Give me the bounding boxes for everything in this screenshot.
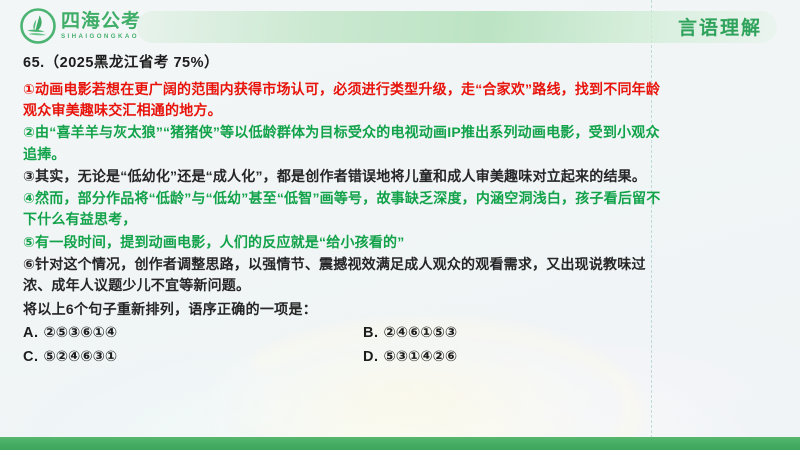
option-c-label: C. xyxy=(23,349,39,365)
section-title: 言语理解 xyxy=(678,13,762,40)
answer-options: A.②⑤③⑥①④ B.②④⑥①⑤③ C.⑤②④⑥③① D.⑤③①④②⑥ xyxy=(23,322,783,368)
statement-2: ②由“喜羊羊与灰太狼”“猪猪侠”等以低龄群体为目标受众的电视动画IP推出系列动画… xyxy=(23,122,663,165)
question-body: 65.（2025黑龙江省考 75%） ①动画电影若想在更广阔的范围内获得市场认可… xyxy=(23,53,783,368)
leaf-circle-logo-icon xyxy=(20,8,56,44)
footer-accent-bar xyxy=(0,437,800,450)
brand-name-en: SIHAIGONGKAO xyxy=(61,34,141,40)
option-c[interactable]: C.⑤②④⑥③① xyxy=(23,346,363,368)
statement-6: ⑥针对这个情况，创作者调整思路，以强情节、震撼视效满足成人观众的观看需求，又出现… xyxy=(23,254,663,297)
option-a[interactable]: A.②⑤③⑥①④ xyxy=(23,322,363,344)
option-a-sequence: ②⑤③⑥①④ xyxy=(44,325,118,341)
statement-4: ④然而，部分作品将“低龄”与“低幼”甚至“低智”画等号，故事缺乏深度，内涵空洞浅… xyxy=(23,188,663,231)
option-d-label: D. xyxy=(363,349,379,365)
brand-name-cn: 四海公考 xyxy=(61,12,141,31)
option-b-label: B. xyxy=(363,325,379,341)
statement-1: ①动画电影若想在更广阔的范围内获得市场认可，必须进行类型升级，走“合家欢”路线，… xyxy=(23,79,663,122)
brand-logo-text: 四海公考 SIHAIGONGKAO xyxy=(61,12,141,40)
brand-logo: 四海公考 SIHAIGONGKAO xyxy=(20,8,141,44)
option-b[interactable]: B.②④⑥①⑤③ xyxy=(363,322,703,344)
option-b-sequence: ②④⑥①⑤③ xyxy=(384,325,458,341)
question-prompt: 将以上6个句子重新排列，语序正确的一项是： xyxy=(23,299,783,320)
option-d-sequence: ⑤③①④②⑥ xyxy=(384,349,458,365)
statement-5: ⑤有一段时间，提到动画电影，人们的反应就是“给小孩看的” xyxy=(23,232,663,253)
option-d[interactable]: D.⑤③①④②⑥ xyxy=(363,346,703,368)
option-a-label: A. xyxy=(23,325,39,341)
option-c-sequence: ⑤②④⑥③① xyxy=(44,349,118,365)
slide-root: 四海公考 SIHAIGONGKAO 言语理解 65.（2025黑龙江省考 75%… xyxy=(0,0,800,450)
slide-header: 四海公考 SIHAIGONGKAO 言语理解 xyxy=(0,0,800,52)
statement-3: ③其实，无论是“低幼化”还是“成人化”，都是创作者错误地将儿童和成人审美趣味对立… xyxy=(23,166,663,187)
question-number-source: 65.（2025黑龙江省考 75%） xyxy=(23,53,783,75)
